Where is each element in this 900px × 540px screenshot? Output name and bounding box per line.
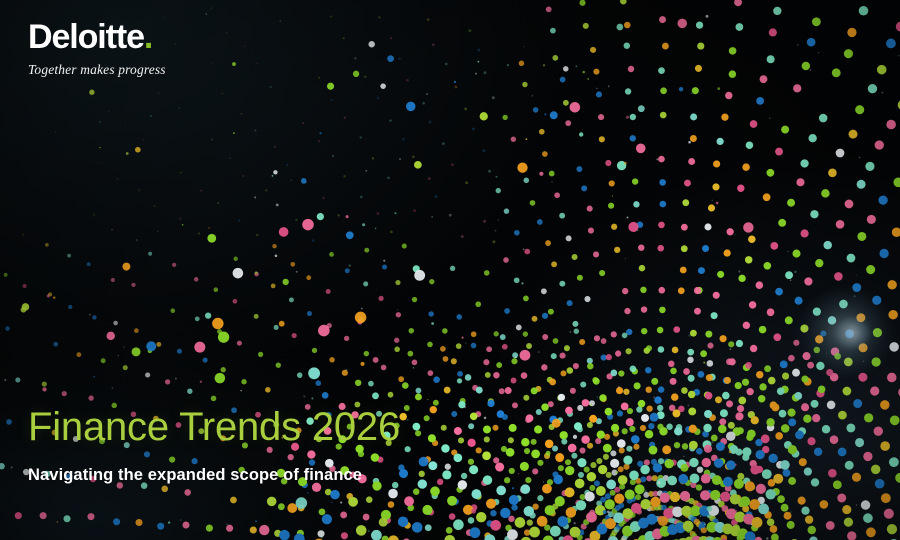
cover-title-block: Finance Trends 2026 Navigating the expan… <box>28 406 400 485</box>
page-title: Finance Trends 2026 <box>28 406 400 448</box>
report-cover: Deloitte. Together makes progress Financ… <box>0 0 900 540</box>
deloitte-green-dot: . <box>144 18 152 56</box>
deloitte-wordmark: Deloitte. <box>28 20 166 54</box>
deloitte-wordmark-text: Deloitte <box>28 18 144 56</box>
deloitte-tagline: Together makes progress <box>28 62 166 78</box>
deloitte-logo: Deloitte. Together makes progress <box>28 20 166 78</box>
page-subtitle: Navigating the expanded scope of finance <box>28 466 400 485</box>
